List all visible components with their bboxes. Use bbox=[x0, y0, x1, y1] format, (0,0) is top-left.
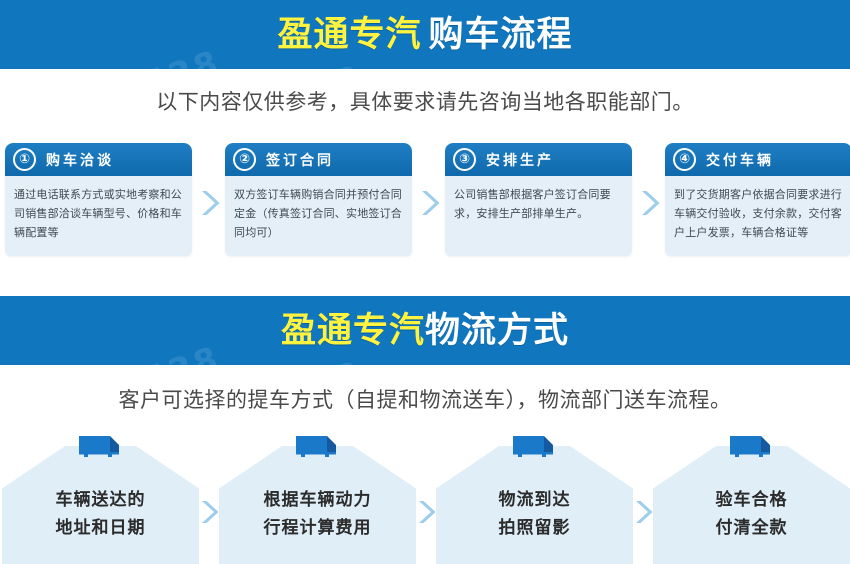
step-card-2[interactable]: ② 签订合同 双方签订车辆购销合同并预付合同定金（传真签订合同、实地签订合同均可… bbox=[225, 143, 412, 256]
truck-icon bbox=[728, 432, 776, 460]
banner-title-logistics: 盈通专汽物流方式 bbox=[281, 313, 569, 348]
step-body-text: 通过电话联系方式或实地考察和公司销售部洽谈车辆型号、价格和车辆配置等 bbox=[5, 176, 192, 256]
logistics-card-4[interactable]: 验车合格 付清全款 bbox=[653, 430, 850, 564]
banner-brand-text: 盈通专汽 bbox=[281, 311, 425, 350]
step-body-text: 公司销售部根据客户签订合同要求，安排生产部排单生产。 bbox=[445, 176, 632, 256]
step-title: 购车洽谈 bbox=[46, 150, 114, 170]
banner-title-purchase: 盈通专汽购车流程 bbox=[277, 17, 572, 52]
step-number-badge: ③ bbox=[453, 148, 476, 171]
chevron-right-icon bbox=[638, 188, 660, 218]
logistics-line-2: 拍照留影 bbox=[436, 514, 633, 542]
chevron-right-icon bbox=[416, 498, 436, 531]
step-title: 签订合同 bbox=[266, 150, 334, 170]
logistics-cards-row: 车辆送达的 地址和日期 根据车辆动力 行程计算 bbox=[0, 430, 850, 564]
step-card-1[interactable]: ① 购车洽谈 通过电话联系方式或实地考察和公司销售部洽谈车辆型号、价格和车辆配置… bbox=[5, 143, 192, 256]
logistics-arrow-2 bbox=[416, 430, 436, 564]
step-title: 安排生产 bbox=[486, 150, 554, 170]
chevron-right-icon bbox=[633, 498, 653, 531]
step-body-text: 到了交货期客户依据合同要求进行车辆交付验收，支付余款，交付客户上户发票，车辆合格… bbox=[665, 176, 850, 256]
truck-icon bbox=[511, 432, 559, 460]
step-number-badge: ④ bbox=[673, 148, 696, 171]
purchase-steps-row: ① 购车洽谈 通过电话联系方式或实地考察和公司销售部洽谈车辆型号、价格和车辆配置… bbox=[0, 143, 850, 263]
logistics-card-3[interactable]: 物流到达 拍照留影 bbox=[436, 430, 633, 564]
logistics-line-2: 行程计算费用 bbox=[219, 514, 416, 542]
step-header-1: ① 购车洽谈 bbox=[5, 143, 192, 176]
logistics-line-2: 地址和日期 bbox=[2, 514, 199, 542]
step-number-badge: ② bbox=[233, 148, 256, 171]
step-header-3: ③ 安排生产 bbox=[445, 143, 632, 176]
logistics-card-text: 验车合格 付清全款 bbox=[653, 486, 850, 541]
logistics-arrow-1 bbox=[199, 430, 219, 564]
step-body-text: 双方签订车辆购销合同并预付合同定金（传真签订合同、实地签订合同均可） bbox=[225, 176, 412, 256]
banner-purchase-process: 13886852428 13886852428 13886852428 盈通专汽… bbox=[0, 0, 850, 72]
step-number-badge: ① bbox=[13, 148, 36, 171]
logistics-card-text: 根据车辆动力 行程计算费用 bbox=[219, 486, 416, 541]
chevron-right-icon bbox=[418, 188, 440, 218]
banner-rest-text: 购车流程 bbox=[429, 15, 573, 54]
logistics-line-1: 根据车辆动力 bbox=[264, 490, 372, 509]
logistics-line-2: 付清全款 bbox=[653, 514, 850, 542]
chevron-right-icon bbox=[198, 188, 220, 218]
truck-icon bbox=[294, 432, 342, 460]
banner-logistics: 13886852428 13886852428 13886852428 盈通专汽… bbox=[0, 296, 850, 368]
subtitle-purchase: 以下内容仅供参考，具体要求请先咨询当地各职能部门。 bbox=[0, 86, 850, 116]
step-arrow-2 bbox=[412, 143, 445, 263]
logistics-card-text: 物流到达 拍照留影 bbox=[436, 486, 633, 541]
truck-icon bbox=[77, 432, 125, 460]
infographic-page: 13886852428 13886852428 13886852428 盈通专汽… bbox=[0, 0, 850, 564]
step-header-4: ④ 交付车辆 bbox=[665, 143, 850, 176]
logistics-line-1: 物流到达 bbox=[499, 490, 571, 509]
chevron-right-icon bbox=[199, 498, 219, 531]
logistics-line-1: 验车合格 bbox=[716, 490, 788, 509]
logistics-card-1[interactable]: 车辆送达的 地址和日期 bbox=[2, 430, 199, 564]
banner-rest-text: 物流方式 bbox=[425, 311, 569, 350]
step-arrow-1 bbox=[192, 143, 225, 263]
step-header-2: ② 签订合同 bbox=[225, 143, 412, 176]
step-card-4[interactable]: ④ 交付车辆 到了交货期客户依据合同要求进行车辆交付验收，支付余款，交付客户上户… bbox=[665, 143, 850, 256]
step-arrow-3 bbox=[632, 143, 665, 263]
step-title: 交付车辆 bbox=[706, 150, 774, 170]
logistics-arrow-3 bbox=[633, 430, 653, 564]
logistics-card-2[interactable]: 根据车辆动力 行程计算费用 bbox=[219, 430, 416, 564]
banner-brand-text: 盈通专汽 bbox=[277, 15, 421, 54]
logistics-card-text: 车辆送达的 地址和日期 bbox=[2, 486, 199, 541]
subtitle-logistics: 客户可选择的提车方式（自提和物流送车），物流部门送车流程。 bbox=[0, 384, 850, 414]
logistics-line-1: 车辆送达的 bbox=[56, 490, 146, 509]
step-card-3[interactable]: ③ 安排生产 公司销售部根据客户签订合同要求，安排生产部排单生产。 bbox=[445, 143, 632, 256]
